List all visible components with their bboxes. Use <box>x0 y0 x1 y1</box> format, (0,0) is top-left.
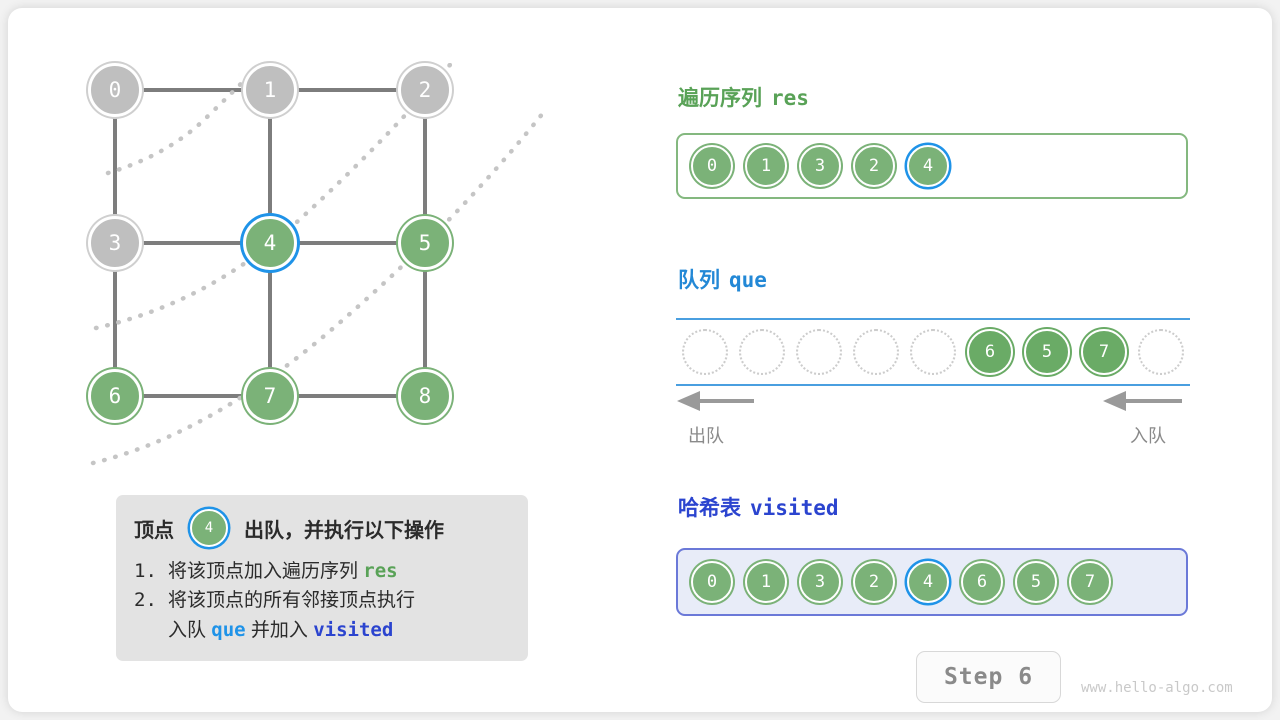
caption-head-prefix: 顶点 <box>134 514 174 543</box>
caption-headline: 顶点 4 出队，并执行以下操作 <box>134 509 510 547</box>
queue-slot-8-empty <box>1138 329 1184 375</box>
watermark: www.hello-algo.com <box>1081 680 1233 696</box>
caption-node-badge: 4 <box>190 509 228 547</box>
res-cell-1: 1 <box>745 145 787 187</box>
caption-step-2-code-visited: visited <box>313 619 393 641</box>
visited-container: 01324657 <box>676 548 1188 616</box>
queue-slot-6-5: 5 <box>1024 329 1070 375</box>
queue-slot-3-empty <box>853 329 899 375</box>
queue-slot-5-6: 6 <box>967 329 1013 375</box>
enqueue-label: 入队 <box>1130 422 1166 448</box>
res-cell-2: 2 <box>853 145 895 187</box>
visited-title-label: 哈希表 <box>678 497 741 520</box>
illustration-card: 012345678 顶点 4 出队，并执行以下操作 1. 将该顶点加入遍历序列 … <box>8 8 1272 712</box>
screenshot-stage: 012345678 顶点 4 出队，并执行以下操作 1. 将该顶点加入遍历序列 … <box>0 0 1280 720</box>
graph-node-6: 6 <box>88 369 142 423</box>
caption-step-2: 2. 将该顶点的所有邻接顶点执行 入队 que 并加入 visited <box>134 586 510 645</box>
enqueue-arrow-icon <box>1108 394 1182 408</box>
caption-step-2-line2-middle: 并加入 <box>251 620 308 641</box>
visited-cell-6: 6 <box>961 561 1003 603</box>
visited-cell-5: 5 <box>1015 561 1057 603</box>
caption-step-2-line2-prefix: 入队 <box>168 620 206 641</box>
step-badge: Step 6 <box>916 651 1061 703</box>
caption-step-1: 1. 将该顶点加入遍历序列 res <box>134 557 510 586</box>
caption-step-2-text-before: 将该顶点的所有邻接顶点执行 <box>168 590 415 611</box>
caption-step-list: 1. 将该顶点加入遍历序列 res 2. 将该顶点的所有邻接顶点执行 入队 qu… <box>134 557 510 645</box>
queue-slot-2-empty <box>796 329 842 375</box>
caption-step-2-code-que: que <box>211 619 245 641</box>
graph-node-7: 7 <box>243 369 297 423</box>
que-panel-title: 队列que <box>678 264 767 294</box>
caption-head-suffix: 出队，并执行以下操作 <box>244 514 444 543</box>
bfs-wavefront-curves <box>93 63 543 463</box>
res-container: 01324 <box>676 133 1188 199</box>
que-title-code: que <box>729 268 767 292</box>
graph-node-8: 8 <box>398 369 452 423</box>
visited-panel-title: 哈希表visited <box>678 492 839 522</box>
queue-direction-arrows <box>676 390 1190 414</box>
que-title-label: 队列 <box>678 269 720 292</box>
visited-cell-4: 4 <box>907 561 949 603</box>
caption-step-1-number: 1. <box>134 557 168 586</box>
graph-node-1: 1 <box>243 63 297 117</box>
que-container: 657 <box>676 318 1190 386</box>
caption-step-2-text: 将该顶点的所有邻接顶点执行 入队 que 并加入 visited <box>168 586 415 645</box>
res-cell-3: 3 <box>799 145 841 187</box>
res-panel-title: 遍历序列res <box>678 82 809 112</box>
res-title-label: 遍历序列 <box>678 87 762 110</box>
res-cell-4: 4 <box>907 145 949 187</box>
graph-edges-and-waves <box>88 63 548 493</box>
visited-cell-7: 7 <box>1069 561 1111 603</box>
graph-node-4: 4 <box>243 216 297 270</box>
caption-step-2-number: 2. <box>134 586 168 645</box>
graph-node-2: 2 <box>398 63 452 117</box>
queue-slot-1-empty <box>739 329 785 375</box>
visited-cell-3: 3 <box>799 561 841 603</box>
visited-cell-1: 1 <box>745 561 787 603</box>
res-title-code: res <box>771 86 809 110</box>
res-cell-0: 0 <box>691 145 733 187</box>
caption-step-1-code-res: res <box>363 560 397 582</box>
graph-node-0: 0 <box>88 63 142 117</box>
queue-slot-4-empty <box>910 329 956 375</box>
caption-box: 顶点 4 出队，并执行以下操作 1. 将该顶点加入遍历序列 res 2. 将该顶… <box>116 495 528 661</box>
graph-diagram: 012345678 <box>88 63 548 493</box>
dequeue-arrow-icon <box>682 394 754 408</box>
visited-title-code: visited <box>750 496 839 520</box>
queue-slot-0-empty <box>682 329 728 375</box>
dequeue-label: 出队 <box>688 422 724 448</box>
graph-node-5: 5 <box>398 216 452 270</box>
caption-step-1-text: 将该顶点加入遍历序列 res <box>168 557 398 586</box>
caption-step-1-text-before: 将该顶点加入遍历序列 <box>168 561 358 582</box>
visited-cell-2: 2 <box>853 561 895 603</box>
visited-cell-0: 0 <box>691 561 733 603</box>
queue-slot-7-7: 7 <box>1081 329 1127 375</box>
graph-node-3: 3 <box>88 216 142 270</box>
